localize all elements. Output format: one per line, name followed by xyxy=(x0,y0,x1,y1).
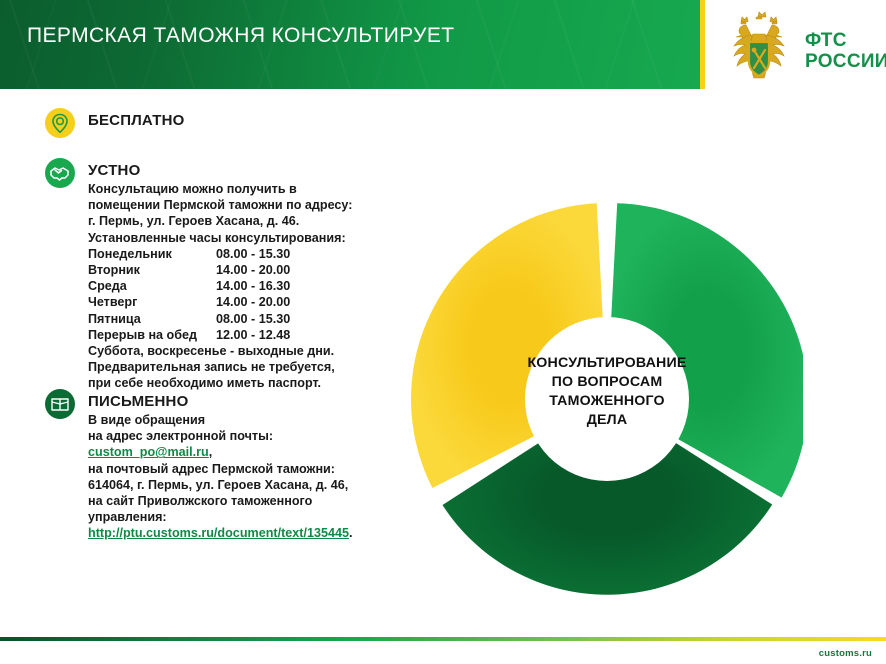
donut-center-line-1: КОНСУЛЬТИРОВАНИЕ xyxy=(411,354,803,373)
schedule-row: Четверг 14.00 - 20.00 xyxy=(88,294,356,310)
footer-gradient-rule xyxy=(0,637,886,641)
logo-line-1: ФТС xyxy=(805,30,886,51)
written-url-row: http://ptu.customs.ru/document/text/1354… xyxy=(88,525,364,541)
written-line-6: управления: xyxy=(88,509,364,525)
donut-chart: КОНСУЛЬТИРОВАНИЕ ПО ВОПРОСАМ ТАМОЖЕННОГО… xyxy=(411,203,803,595)
written-line-1: В виде обращения xyxy=(88,412,364,428)
schedule-row: Среда 14.00 - 16.30 xyxy=(88,278,356,294)
section-heading-free: БЕСПЛАТНО xyxy=(88,112,184,129)
oral-note-line-1: Суббота, воскресенье - выходные дни. xyxy=(88,343,356,359)
header-banner: ПЕРМСКАЯ ТАМОЖНЯ КОНСУЛЬТИРУЕТ xyxy=(0,0,700,89)
schedule-day: Четверг xyxy=(88,294,216,310)
section-heading-oral: УСТНО xyxy=(88,162,140,179)
oral-note-line-2: Предварительная запись не требуется, xyxy=(88,359,356,375)
schedule-time: 12.00 - 12.48 xyxy=(216,327,290,343)
schedule-day: Среда xyxy=(88,278,216,294)
schedule-day: Вторник xyxy=(88,262,216,278)
open-book-icon xyxy=(45,389,75,419)
footer-site-label: customs.ru xyxy=(819,648,872,659)
schedule-day: Перерыв на обед xyxy=(88,327,216,343)
written-line-2: на адрес электронной почты: xyxy=(88,428,364,444)
written-line-4: 614064, г. Пермь, ул. Героев Хасана, д. … xyxy=(88,477,364,493)
schedule-row: Понедельник 08.00 - 15.30 xyxy=(88,246,356,262)
logo-line-2: РОССИИ xyxy=(805,51,886,72)
schedule-time: 08.00 - 15.30 xyxy=(216,246,290,262)
section-heading-written: ПИСЬМЕННО xyxy=(88,393,188,410)
logo-wordmark: ФТС РОССИИ xyxy=(805,30,886,72)
oral-intro-line-3: г. Пермь, ул. Героев Хасана, д. 46. xyxy=(88,213,356,229)
schedule-row: Пятница 08.00 - 15.30 xyxy=(88,311,356,327)
written-line-3: на почтовый адрес Пермской таможни: xyxy=(88,461,364,477)
url-suffix: . xyxy=(349,526,353,540)
fts-logo: ФТС РОССИИ xyxy=(716,8,882,84)
oral-consultation-body: Консультацию можно получить в помещении … xyxy=(88,181,356,392)
written-consultation-body: В виде обращения на адрес электронной по… xyxy=(88,412,364,542)
donut-center-line-2: ПО ВОПРОСАМ xyxy=(411,373,803,392)
email-suffix: , xyxy=(209,445,213,459)
written-line-5: на сайт Приволжского таможенного xyxy=(88,493,364,509)
schedule-row: Перерыв на обед 12.00 - 12.48 xyxy=(88,327,356,343)
donut-center-line-3: ТАМОЖЕННОГО xyxy=(411,392,803,411)
location-pin-icon xyxy=(45,108,75,138)
schedule-day: Пятница xyxy=(88,311,216,327)
double-headed-eagle-icon xyxy=(716,8,802,84)
schedule-row: Вторник 14.00 - 20.00 xyxy=(88,262,356,278)
email-link[interactable]: custom_po@mail.ru xyxy=(88,445,209,459)
oral-hours-title: Установленные часы консультирования: xyxy=(88,230,356,246)
schedule-day: Понедельник xyxy=(88,246,216,262)
written-email-row: custom_po@mail.ru, xyxy=(88,444,364,460)
donut-center-label: КОНСУЛЬТИРОВАНИЕ ПО ВОПРОСАМ ТАМОЖЕННОГО… xyxy=(411,354,803,430)
schedule-time: 08.00 - 15.30 xyxy=(216,311,290,327)
handshake-icon xyxy=(45,158,75,188)
oral-note-line-3: при себе необходимо иметь паспорт. xyxy=(88,375,356,391)
website-link[interactable]: http://ptu.customs.ru/document/text/1354… xyxy=(88,526,349,540)
page-title: ПЕРМСКАЯ ТАМОЖНЯ КОНСУЛЬТИРУЕТ xyxy=(27,24,455,48)
oral-intro-line-2: помещении Пермской таможни по адресу: xyxy=(88,197,356,213)
oral-intro-line-1: Консультацию можно получить в xyxy=(88,181,356,197)
donut-center-line-4: ДЕЛА xyxy=(411,411,803,430)
schedule-time: 14.00 - 20.00 xyxy=(216,294,290,310)
header-accent-stripe xyxy=(700,0,705,89)
schedule-time: 14.00 - 16.30 xyxy=(216,278,290,294)
schedule-time: 14.00 - 20.00 xyxy=(216,262,290,278)
